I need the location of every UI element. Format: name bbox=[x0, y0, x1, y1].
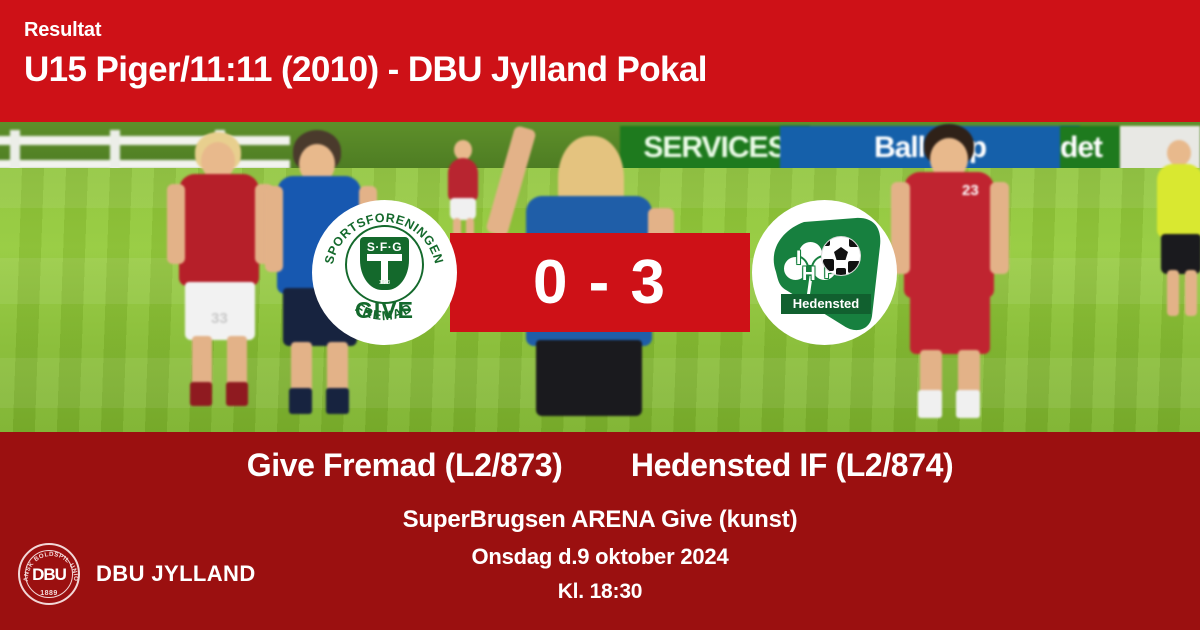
score-value: 0 - 3 bbox=[450, 233, 750, 332]
badge-town: GIVE bbox=[312, 297, 457, 324]
badge-initials: S·F·G bbox=[360, 240, 409, 254]
poster-header: Resultat U15 Piger/11:11 (2010) - DBU Jy… bbox=[0, 0, 1200, 122]
dbu-year: 1889 bbox=[20, 590, 78, 597]
score-strip: 0 - 3 bbox=[450, 233, 750, 332]
player-red-right: 23 bbox=[890, 124, 1010, 424]
away-team-name: Hedensted IF (L2/874) bbox=[631, 447, 953, 484]
result-poster: Resultat U15 Piger/11:11 (2010) - DBU Jy… bbox=[0, 0, 1200, 630]
home-team-badge: SPORTSFORENINGEN FREMAD S·F·G 1913 GIVE bbox=[312, 200, 457, 345]
badge-letter-h: H bbox=[802, 264, 816, 286]
referee bbox=[1155, 140, 1200, 320]
badge-banner: Hedensted bbox=[781, 294, 871, 314]
venue-text: SuperBrugsen ARENA Give (kunst) bbox=[0, 506, 1200, 534]
dbu-crest-icon: DANSK BOLDSPIL UNION DBU 1889 bbox=[18, 543, 80, 605]
player-red-left: 33 bbox=[165, 132, 275, 402]
away-team-badge: I H F Hedensted bbox=[752, 200, 897, 345]
dbu-org-name: DBU JYLLAND bbox=[96, 561, 256, 587]
header-kicker: Resultat bbox=[24, 20, 1200, 40]
badge-letter-i: I bbox=[796, 248, 801, 270]
dbu-jylland-logo: DANSK BOLDSPIL UNION DBU 1889 DBU JYLLAN… bbox=[18, 543, 256, 605]
soccer-ball-icon bbox=[821, 236, 861, 276]
ad-board-det: det bbox=[1060, 126, 1120, 170]
page-title: U15 Piger/11:11 (2010) - DBU Jylland Pok… bbox=[24, 52, 1200, 87]
badge-year: 1913 bbox=[360, 280, 409, 286]
dbu-letters: DBU bbox=[20, 565, 78, 585]
teams-row: Give Fremad (L2/873) Hedensted IF (L2/87… bbox=[0, 447, 1200, 484]
home-team-name: Give Fremad (L2/873) bbox=[247, 447, 563, 484]
badge-shield: S·F·G 1913 bbox=[360, 237, 409, 290]
